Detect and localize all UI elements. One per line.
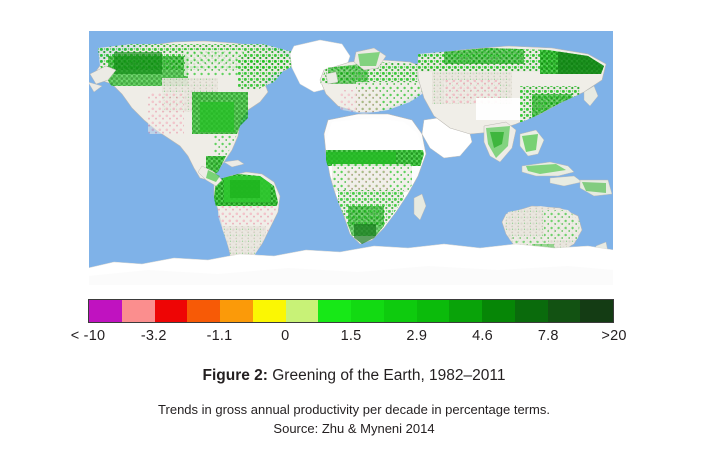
figure-caption-subtitle: Trends in gross annual productivity per … bbox=[0, 400, 708, 438]
figure-caption-title: Figure 2: Greening of the Earth, 1982–20… bbox=[0, 367, 708, 385]
figure-number-label: Figure 2: bbox=[202, 367, 267, 384]
colorbar-tick-labels: < -10-3.2-1.101.52.94.67.8>20 bbox=[88, 328, 614, 350]
world-map-svg bbox=[88, 30, 614, 286]
colorbar-segment-5 bbox=[220, 300, 253, 322]
colorbar-segment-10 bbox=[384, 300, 417, 322]
colorbar-segment-13 bbox=[482, 300, 515, 322]
colorbar-tick-1: -3.2 bbox=[141, 328, 167, 344]
colorbar-segment-4 bbox=[187, 300, 220, 322]
colorbar-tick-2: -1.1 bbox=[207, 328, 233, 344]
colorbar bbox=[88, 299, 614, 323]
colorbar-segment-12 bbox=[449, 300, 482, 322]
colorbar-segment-14 bbox=[515, 300, 548, 322]
figure-container: < -10-3.2-1.101.52.94.67.8>20 Figure 2: … bbox=[0, 0, 708, 454]
colorbar-tick-0: < -10 bbox=[71, 328, 105, 344]
colorbar-segment-8 bbox=[318, 300, 351, 322]
colorbar-segment-2 bbox=[122, 300, 155, 322]
colorbar-tick-4: 1.5 bbox=[341, 328, 362, 344]
colorbar-segment-15 bbox=[548, 300, 581, 322]
figure-title-text: Greening of the Earth, 1982–2011 bbox=[268, 367, 506, 384]
colorbar-tick-5: 2.9 bbox=[406, 328, 427, 344]
colorbar-segment-16 bbox=[580, 300, 613, 322]
world-map-panel bbox=[88, 30, 614, 286]
colorbar-segment-7 bbox=[286, 300, 319, 322]
colorbar-tick-7: 7.8 bbox=[538, 328, 559, 344]
colorbar-segment-3 bbox=[155, 300, 188, 322]
colorbar-tick-6: 4.6 bbox=[472, 328, 493, 344]
colorbar-segment-6 bbox=[253, 300, 286, 322]
colorbar-tick-3: 0 bbox=[281, 328, 289, 344]
colorbar-segment-1 bbox=[89, 300, 122, 322]
caption-subtitle-line-1: Trends in gross annual productivity per … bbox=[0, 400, 708, 419]
caption-source-line: Source: Zhu & Myneni 2014 bbox=[0, 419, 708, 438]
colorbar-tick-8: >20 bbox=[601, 328, 626, 344]
colorbar-segment-11 bbox=[417, 300, 450, 322]
colorbar-segment-9 bbox=[351, 300, 384, 322]
colorbar-gradient bbox=[88, 299, 614, 323]
